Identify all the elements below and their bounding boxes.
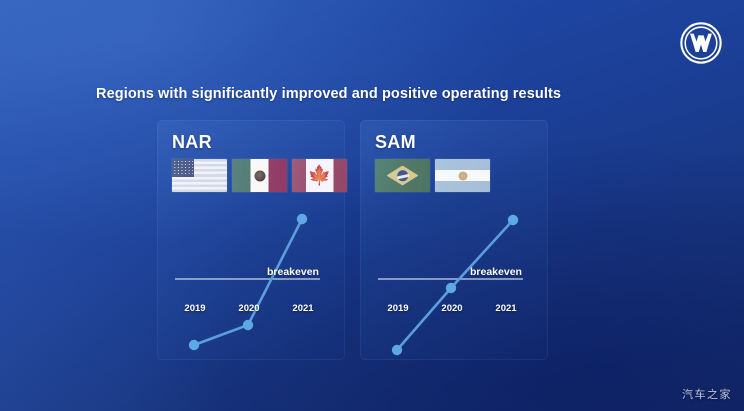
region-card-nar: NAR 🍁 xyxy=(157,120,345,360)
breakeven-label-sam: breakeven xyxy=(470,266,522,278)
x-tick-nar-2020: 2020 xyxy=(238,303,259,314)
watermark: 汽车之家 xyxy=(682,386,732,402)
x-tick-nar-2021: 2021 xyxy=(292,303,313,314)
data-point-nar-2021[interactable] xyxy=(297,214,307,224)
volkswagen-logo-icon xyxy=(678,20,724,66)
data-point-sam-2020[interactable] xyxy=(446,283,456,293)
data-point-sam-2021[interactable] xyxy=(508,215,518,225)
breakeven-label-nar: breakeven xyxy=(267,266,319,278)
region-card-sam: SAM breakeven 2019 2020 2021 xyxy=(360,120,548,360)
x-tick-sam-2019: 2019 xyxy=(387,303,408,314)
data-point-nar-2020[interactable] xyxy=(243,320,253,330)
x-tick-nar-2019: 2019 xyxy=(184,303,205,314)
data-point-nar-2019[interactable] xyxy=(189,340,199,350)
page-title: Regions with significantly improved and … xyxy=(96,86,561,102)
chart-sam: breakeven 2019 2020 2021 xyxy=(360,120,548,360)
data-point-sam-2019[interactable] xyxy=(392,345,402,355)
x-tick-sam-2020: 2020 xyxy=(441,303,462,314)
x-tick-sam-2021: 2021 xyxy=(495,303,516,314)
chart-nar: breakeven 2019 2020 2021 xyxy=(157,120,345,360)
slide-canvas: Regions with significantly improved and … xyxy=(0,0,744,411)
